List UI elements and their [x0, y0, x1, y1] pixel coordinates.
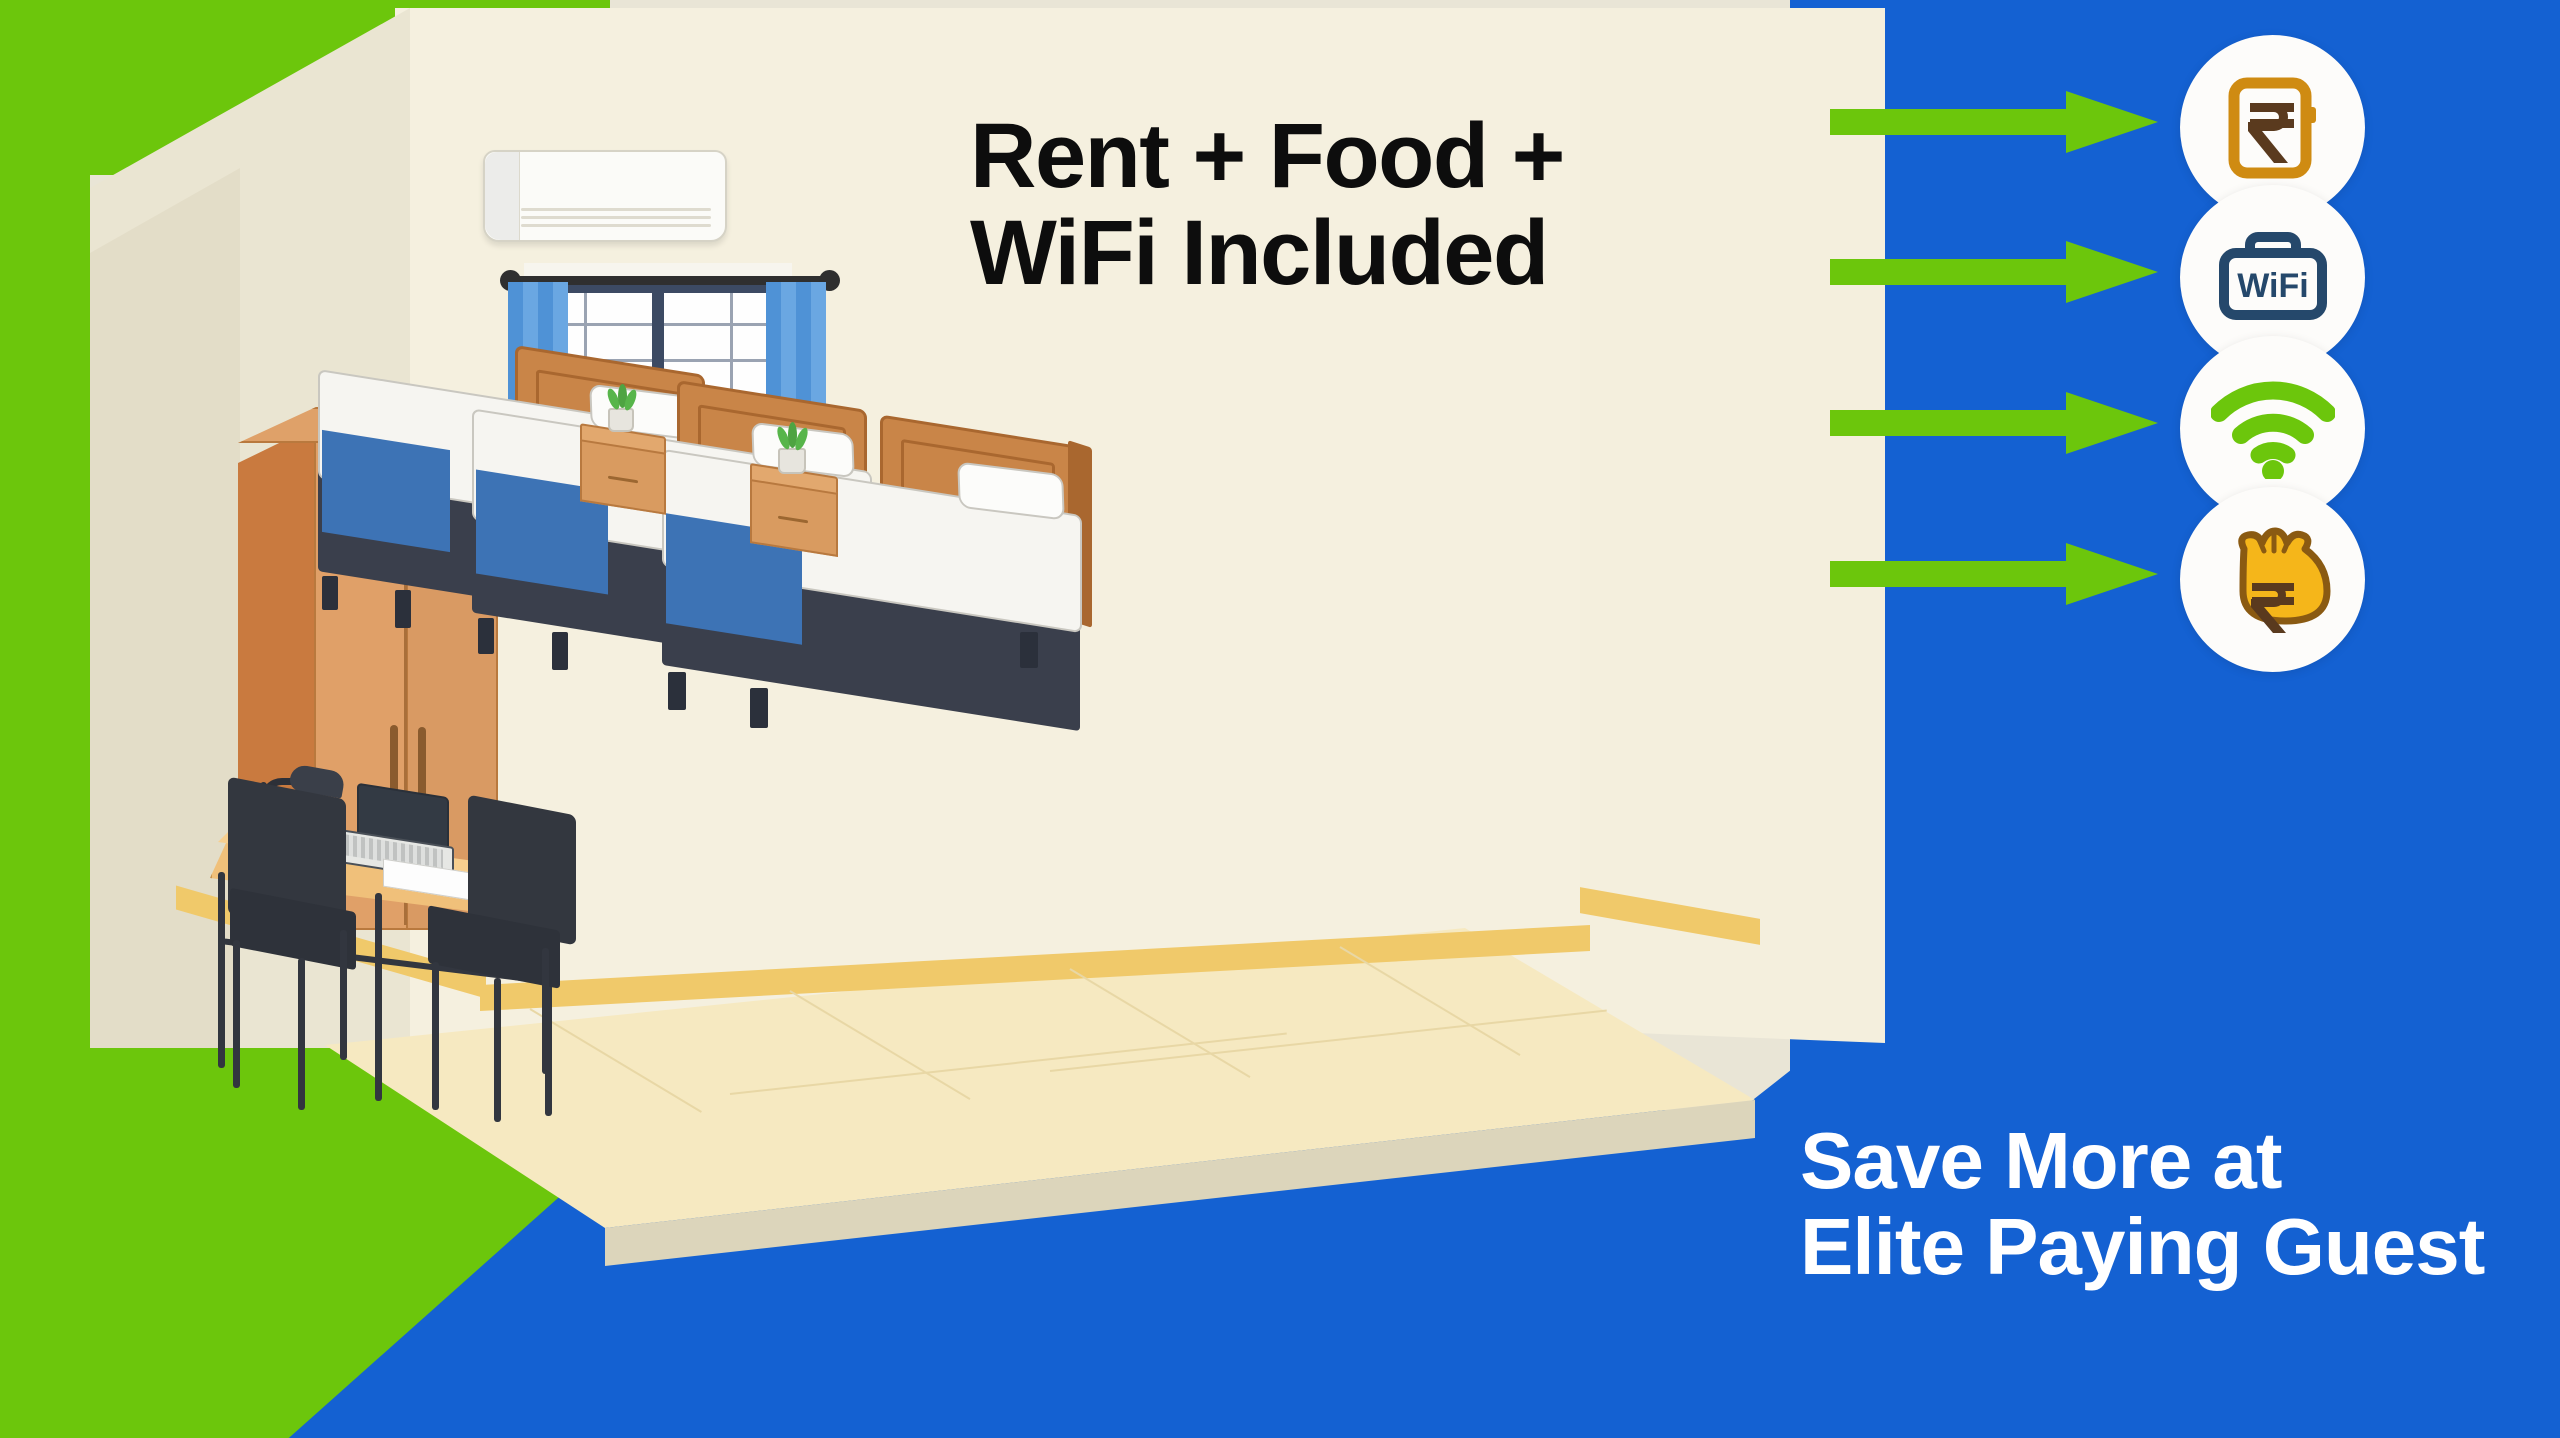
cta-line-2: Elite Paying Guest: [1800, 1204, 2540, 1290]
money-bag-icon: [2214, 523, 2332, 637]
chair-leg: [542, 948, 549, 1074]
feature-badge-savings[interactable]: [2180, 487, 2365, 672]
desk-leg: [375, 893, 382, 1101]
chair-leg: [494, 978, 501, 1122]
plant-pot: [608, 408, 634, 432]
bed-leg: [478, 618, 494, 654]
arrow-right-icon: [1830, 241, 2160, 303]
poster-canvas: Rent + Food + WiFi Included: [0, 0, 2560, 1438]
wifi-router-icon: WiFi: [2214, 223, 2332, 333]
bed-leg: [552, 632, 568, 670]
chair-leg: [340, 930, 347, 1060]
bed-blanket: [322, 430, 450, 552]
cta-line-1: Save More at: [1800, 1118, 2540, 1204]
feature-row-wifi-signal: [1830, 336, 2530, 511]
ac-end-cap: [485, 152, 520, 240]
ac-vent-line: [521, 224, 711, 227]
rupee-bill-icon: [2218, 73, 2328, 183]
arrow-shaft: [1830, 561, 2075, 587]
wifi-signal-icon: [2211, 379, 2335, 479]
headline: Rent + Food + WiFi Included: [970, 108, 1750, 301]
chair-leg: [432, 962, 439, 1110]
plant-pot: [778, 448, 806, 474]
cta-text: Save More at Elite Paying Guest: [1800, 1118, 2540, 1291]
bed-leg: [322, 576, 338, 610]
arrow-shaft: [1830, 109, 2075, 135]
arrow-head: [2066, 392, 2158, 454]
arrow-right-icon: [1830, 392, 2160, 454]
ac-vent-line: [521, 216, 711, 219]
feature-row-wifi-router: WiFi: [1830, 185, 2530, 360]
arrow-head: [2066, 91, 2158, 153]
svg-text:WiFi: WiFi: [2237, 267, 2308, 305]
bed-leg: [395, 590, 411, 628]
bed-leg: [1020, 632, 1038, 668]
arrow-head: [2066, 241, 2158, 303]
arrow-right-icon: [1830, 543, 2160, 605]
bed-leg: [668, 672, 686, 710]
air-conditioner: [483, 150, 727, 242]
arrow-shaft: [1830, 259, 2075, 285]
feature-row-rent: [1830, 35, 2530, 210]
chair-leg: [298, 958, 305, 1110]
desk-leg: [218, 872, 225, 1068]
bed-leg: [750, 688, 768, 728]
arrow-right-icon: [1830, 91, 2160, 153]
arrow-shaft: [1830, 410, 2075, 436]
arrow-head: [2066, 543, 2158, 605]
headline-line-2: WiFi Included: [970, 205, 1750, 302]
ac-vent-line: [521, 208, 711, 211]
feature-row-savings: [1830, 487, 2530, 662]
chair-leg: [233, 940, 240, 1088]
headline-line-1: Rent + Food +: [970, 108, 1750, 205]
